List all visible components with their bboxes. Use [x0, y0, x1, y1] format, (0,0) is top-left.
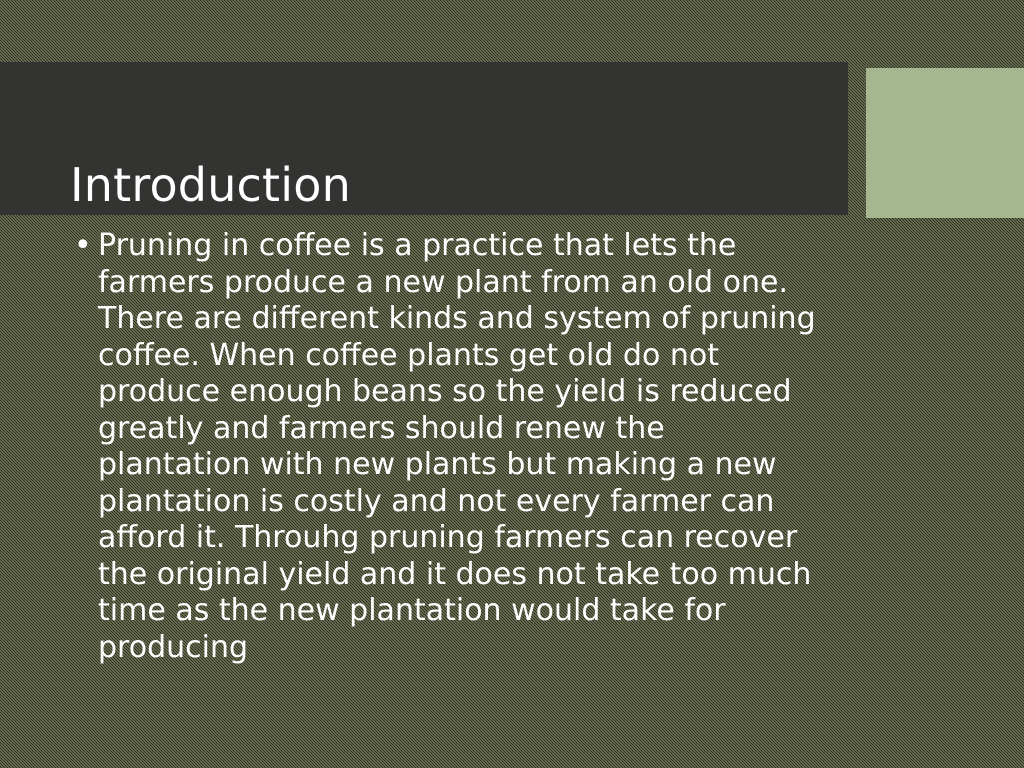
- title-bar: Introduction: [0, 62, 848, 215]
- slide-title: Introduction: [70, 162, 351, 208]
- list-item-text: Pruning in coffee is a practice that let…: [98, 228, 816, 665]
- accent-block: [866, 68, 1024, 218]
- bullet-list: • Pruning in coffee is a practice that l…: [0, 228, 1024, 666]
- bullet-marker-icon: •: [74, 228, 86, 265]
- list-item: • Pruning in coffee is a practice that l…: [0, 228, 1024, 666]
- presentation-slide: Introduction • Pruning in coffee is a pr…: [0, 0, 1024, 768]
- slide-body: • Pruning in coffee is a practice that l…: [0, 228, 1024, 666]
